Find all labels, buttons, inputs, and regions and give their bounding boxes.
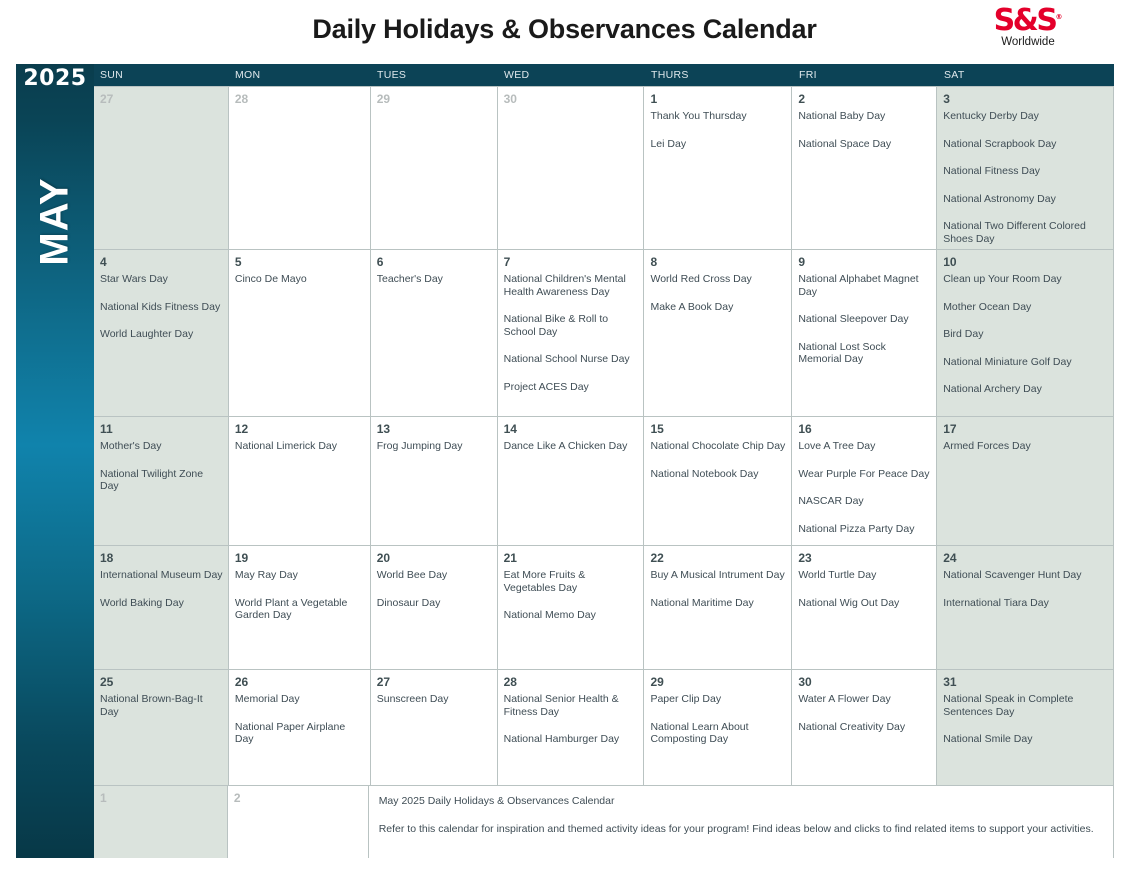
title-bar: Daily Holidays & Observances Calendar S&…: [0, 0, 1129, 64]
holiday-event[interactable]: National Fitness Day: [943, 165, 1108, 178]
day-cell[interactable]: 1Thank You ThursdayLei Day: [644, 87, 792, 249]
weekday-tues: TUES: [371, 64, 498, 86]
day-number: 10: [943, 255, 1108, 270]
holiday-event[interactable]: NASCAR Day: [798, 495, 931, 508]
holiday-event[interactable]: World Bee Day: [377, 569, 492, 582]
weekday-sat: SAT: [938, 64, 1114, 86]
holiday-event[interactable]: National Creativity Day: [798, 721, 931, 734]
day-number: 2: [234, 791, 363, 806]
day-cell[interactable]: 4Star Wars DayNational Kids Fitness DayW…: [94, 250, 229, 416]
day-cell[interactable]: 29Paper Clip DayNational Learn About Com…: [644, 670, 792, 785]
day-number: 27: [377, 675, 492, 690]
day-number: 5: [235, 255, 365, 270]
page-title: Daily Holidays & Observances Calendar: [0, 14, 1129, 45]
holiday-event[interactable]: National School Nurse Day: [504, 353, 639, 366]
day-cell[interactable]: 9National Alphabet Magnet DayNational Sl…: [792, 250, 937, 416]
calendar-note: May 2025 Daily Holidays & Observances Ca…: [369, 786, 1113, 858]
day-cell[interactable]: 20World Bee DayDinosaur Day: [371, 546, 498, 669]
holiday-event[interactable]: National Smile Day: [943, 733, 1108, 746]
holiday-event[interactable]: World Plant a Vegetable Garden Day: [235, 597, 365, 622]
holiday-event[interactable]: National Space Day: [798, 138, 931, 151]
day-number: 2: [798, 92, 931, 107]
day-number: 27: [100, 92, 223, 107]
day-cell[interactable]: 27Sunscreen Day: [371, 670, 498, 785]
day-number: 11: [100, 422, 223, 437]
day-number: 18: [100, 551, 223, 566]
week-rows-container: 272829301Thank You ThursdayLei Day2Natio…: [94, 86, 1114, 858]
holiday-event[interactable]: National Archery Day: [943, 383, 1108, 396]
day-cell[interactable]: 29: [371, 87, 498, 249]
holiday-event[interactable]: National Alphabet Magnet Day: [798, 273, 931, 298]
day-number: 15: [650, 422, 786, 437]
day-number: 30: [504, 92, 639, 107]
day-number: 13: [377, 422, 492, 437]
holiday-event[interactable]: National Kids Fitness Day: [100, 301, 223, 314]
holiday-event[interactable]: Paper Clip Day: [650, 693, 786, 706]
day-number: 12: [235, 422, 365, 437]
holiday-event[interactable]: Sunscreen Day: [377, 693, 492, 706]
holiday-event[interactable]: Mother Ocean Day: [943, 301, 1108, 314]
holiday-event[interactable]: National Maritime Day: [650, 597, 786, 610]
day-cell[interactable]: 28National Senior Health & Fitness DayNa…: [498, 670, 645, 785]
holiday-event[interactable]: Frog Jumping Day: [377, 440, 492, 453]
day-cell[interactable]: 22Buy A Musical Intrument DayNational Ma…: [644, 546, 792, 669]
day-cell[interactable]: 19May Ray DayWorld Plant a Vegetable Gar…: [229, 546, 371, 669]
holiday-event[interactable]: National Scavenger Hunt Day: [943, 569, 1108, 582]
holiday-event[interactable]: National Notebook Day: [650, 468, 786, 481]
holiday-event[interactable]: National Learn About Composting Day: [650, 721, 786, 746]
day-cell[interactable]: 18International Museum DayWorld Baking D…: [94, 546, 229, 669]
day-number: 22: [650, 551, 786, 566]
calendar-grid: 2025 MAY SUN MON TUES WED THURS FRI SAT …: [16, 64, 1114, 858]
day-cell[interactable]: 25National Brown-Bag-It Day: [94, 670, 229, 785]
day-number: 14: [504, 422, 639, 437]
day-number: 7: [504, 255, 639, 270]
day-cell[interactable]: 27: [94, 87, 229, 249]
holiday-event[interactable]: Armed Forces Day: [943, 440, 1108, 453]
month-rail: 2025 MAY: [16, 64, 94, 858]
footer-row: 12May 2025 Daily Holidays & Observances …: [94, 786, 1113, 858]
holiday-event[interactable]: World Baking Day: [100, 597, 223, 610]
holiday-event[interactable]: National Bike & Roll to School Day: [504, 313, 639, 338]
logo-mark-text: S&S: [994, 3, 1056, 38]
day-number: 29: [377, 92, 492, 107]
holiday-event[interactable]: National Speak in Complete Sentences Day: [943, 693, 1108, 718]
day-cell[interactable]: 30: [498, 87, 645, 249]
day-number: 9: [798, 255, 931, 270]
day-cell[interactable]: 14Dance Like A Chicken Day: [498, 417, 645, 545]
day-cell[interactable]: 23World Turtle DayNational Wig Out Day: [792, 546, 937, 669]
holiday-event[interactable]: World Turtle Day: [798, 569, 931, 582]
holiday-event[interactable]: Project ACES Day: [504, 381, 639, 394]
week-row: 11Mother's DayNational Twilight Zone Day…: [94, 417, 1113, 546]
holiday-event[interactable]: Lei Day: [650, 138, 786, 151]
day-number: 24: [943, 551, 1108, 566]
weekday-mon: MON: [229, 64, 371, 86]
holiday-event[interactable]: Mother's Day: [100, 440, 223, 453]
day-cell[interactable]: 28: [229, 87, 371, 249]
holiday-event[interactable]: International Museum Day: [100, 569, 223, 582]
holiday-event[interactable]: National Paper Airplane Day: [235, 721, 365, 746]
note-body: Refer to this calendar for inspiration a…: [379, 823, 1103, 836]
day-cell[interactable]: 2: [228, 786, 369, 858]
holiday-event[interactable]: Make A Book Day: [650, 301, 786, 314]
holiday-event[interactable]: Buy A Musical Intrument Day: [650, 569, 786, 582]
logo-registered-icon: ®: [1055, 13, 1062, 21]
holiday-event[interactable]: Clean up Your Room Day: [943, 273, 1108, 286]
week-row: 18International Museum DayWorld Baking D…: [94, 546, 1113, 670]
day-number: 19: [235, 551, 365, 566]
day-cell[interactable]: 30Water A Flower DayNational Creativity …: [792, 670, 937, 785]
holiday-event[interactable]: National Scrapbook Day: [943, 138, 1108, 151]
day-cell[interactable]: 15National Chocolate Chip DayNational No…: [644, 417, 792, 545]
day-number: 4: [100, 255, 223, 270]
year-label: 2025: [16, 66, 94, 91]
day-number: 23: [798, 551, 931, 566]
day-cell[interactable]: 2National Baby DayNational Space Day: [792, 87, 937, 249]
day-number: 26: [235, 675, 365, 690]
week-row: 25National Brown-Bag-It Day26Memorial Da…: [94, 670, 1113, 786]
ss-worldwide-logo: S&S® Worldwide: [989, 6, 1067, 49]
holiday-event[interactable]: Bird Day: [943, 328, 1108, 341]
holiday-event[interactable]: National Miniature Golf Day: [943, 356, 1108, 369]
day-number: 16: [798, 422, 931, 437]
holiday-event[interactable]: National Chocolate Chip Day: [650, 440, 786, 453]
weekday-sun: SUN: [94, 64, 229, 86]
holiday-event[interactable]: Cinco De Mayo: [235, 273, 365, 286]
day-cell[interactable]: 8World Red Cross DayMake A Book Day: [644, 250, 792, 416]
holiday-event[interactable]: Eat More Fruits & Vegetables Day: [504, 569, 639, 594]
calendar-page: Daily Holidays & Observances Calendar S&…: [0, 0, 1129, 870]
holiday-event[interactable]: National Memo Day: [504, 609, 639, 622]
day-cell[interactable]: 1: [94, 786, 228, 858]
holiday-event[interactable]: World Red Cross Day: [650, 273, 786, 286]
day-number: 31: [943, 675, 1108, 690]
day-cell[interactable]: 16Love A Tree DayWear Purple For Peace D…: [792, 417, 937, 545]
holiday-event[interactable]: Love A Tree Day: [798, 440, 931, 453]
day-number: 25: [100, 675, 223, 690]
day-number: 30: [798, 675, 931, 690]
holiday-event[interactable]: National Lost Sock Memorial Day: [798, 341, 931, 366]
day-cell[interactable]: 24National Scavenger Hunt DayInternation…: [937, 546, 1113, 669]
day-number: 28: [235, 92, 365, 107]
week-row: 4Star Wars DayNational Kids Fitness DayW…: [94, 250, 1113, 417]
day-cell[interactable]: 17Armed Forces Day: [937, 417, 1113, 545]
holiday-event[interactable]: National Twilight Zone Day: [100, 468, 223, 493]
holiday-event[interactable]: National Sleepover Day: [798, 313, 931, 326]
holiday-event[interactable]: Thank You Thursday: [650, 110, 786, 123]
day-cell[interactable]: 7National Children's Mental Health Aware…: [498, 250, 645, 416]
holiday-event[interactable]: National Pizza Party Day: [798, 523, 931, 536]
day-cell[interactable]: 12National Limerick Day: [229, 417, 371, 545]
holiday-event[interactable]: May Ray Day: [235, 569, 365, 582]
day-number: 1: [100, 791, 222, 806]
weekday-fri: FRI: [793, 64, 938, 86]
holiday-event[interactable]: International Tiara Day: [943, 597, 1108, 610]
day-cell[interactable]: 13Frog Jumping Day: [371, 417, 498, 545]
holiday-event[interactable]: National Wig Out Day: [798, 597, 931, 610]
weekday-header: SUN MON TUES WED THURS FRI SAT: [94, 64, 1114, 86]
holiday-event[interactable]: Dinosaur Day: [377, 597, 492, 610]
holiday-event[interactable]: National Hamburger Day: [504, 733, 639, 746]
holiday-event[interactable]: Memorial Day: [235, 693, 365, 706]
day-cell[interactable]: 10Clean up Your Room DayMother Ocean Day…: [937, 250, 1113, 416]
day-cell[interactable]: 5Cinco De Mayo: [229, 250, 371, 416]
day-number: 8: [650, 255, 786, 270]
holiday-event[interactable]: Wear Purple For Peace Day: [798, 468, 931, 481]
day-number: 17: [943, 422, 1108, 437]
holiday-event[interactable]: National Children's Mental Health Awaren…: [504, 273, 639, 298]
day-cell[interactable]: 31National Speak in Complete Sentences D…: [937, 670, 1113, 785]
logo-subtext: Worldwide: [989, 37, 1067, 49]
holiday-event[interactable]: National Limerick Day: [235, 440, 365, 453]
holiday-event[interactable]: National Senior Health & Fitness Day: [504, 693, 639, 718]
holiday-event[interactable]: Kentucky Derby Day: [943, 110, 1108, 123]
weekday-wed: WED: [498, 64, 645, 86]
holiday-event[interactable]: Dance Like A Chicken Day: [504, 440, 639, 453]
holiday-event[interactable]: Star Wars Day: [100, 273, 223, 286]
day-number: 6: [377, 255, 492, 270]
week-row: 272829301Thank You ThursdayLei Day2Natio…: [94, 87, 1113, 250]
holiday-event[interactable]: National Two Different Colored Shoes Day: [943, 220, 1108, 245]
day-number: 20: [377, 551, 492, 566]
day-cell[interactable]: 3Kentucky Derby DayNational Scrapbook Da…: [937, 87, 1113, 249]
day-number: 3: [943, 92, 1108, 107]
day-cell[interactable]: 11Mother's DayNational Twilight Zone Day: [94, 417, 229, 545]
day-cell[interactable]: 21Eat More Fruits & Vegetables DayNation…: [498, 546, 645, 669]
holiday-event[interactable]: World Laughter Day: [100, 328, 223, 341]
day-number: 29: [650, 675, 786, 690]
day-number: 1: [650, 92, 786, 107]
month-label: MAY: [33, 110, 78, 334]
day-cell[interactable]: 26Memorial DayNational Paper Airplane Da…: [229, 670, 371, 785]
holiday-event[interactable]: Teacher's Day: [377, 273, 492, 286]
note-title: May 2025 Daily Holidays & Observances Ca…: [379, 795, 1103, 808]
holiday-event[interactable]: National Brown-Bag-It Day: [100, 693, 223, 718]
holiday-event[interactable]: National Baby Day: [798, 110, 931, 123]
logo-wordmark: S&S®: [989, 6, 1067, 36]
weekday-thurs: THURS: [645, 64, 793, 86]
holiday-event[interactable]: National Astronomy Day: [943, 193, 1108, 206]
holiday-event[interactable]: Water A Flower Day: [798, 693, 931, 706]
day-number: 21: [504, 551, 639, 566]
day-number: 28: [504, 675, 639, 690]
day-cell[interactable]: 6Teacher's Day: [371, 250, 498, 416]
